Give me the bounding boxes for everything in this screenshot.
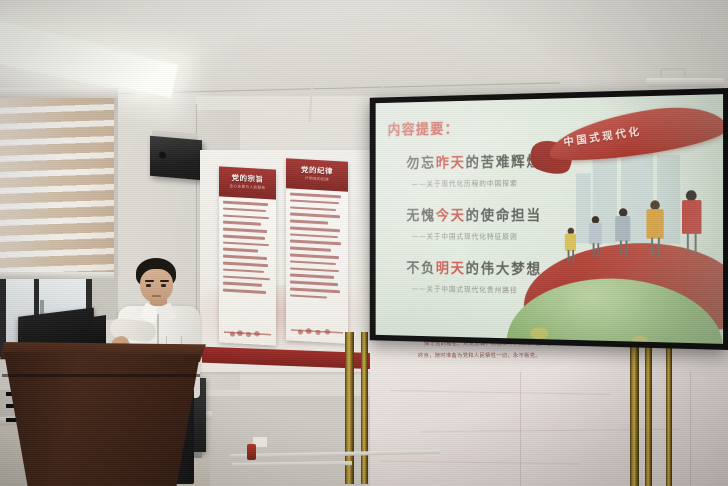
wall-speaker-icon xyxy=(150,136,202,181)
speaker-cone xyxy=(158,150,167,160)
oath-text-line-2: 终身，随时准备为党和人民牺牲一切，永不叛党。 xyxy=(418,352,541,359)
slide-bullet-2: 无愧今天的使命担当 ——关于中国式现代化特征原则 xyxy=(406,205,542,242)
wall-poster-party-purpose: 党的宗旨 全心全意为人民服务 xyxy=(219,166,276,345)
projector-screen-mount xyxy=(646,78,724,87)
lecture-hall-photo: 党的宗旨 全心全意为人民服务 党的纪律 严明党的纪律 xyxy=(0,0,728,486)
presenter-mouth xyxy=(152,295,161,297)
bullet-prefix: 不负 xyxy=(406,259,435,276)
bullet-highlight: 今天 xyxy=(436,207,466,224)
poster-header: 党的纪律 严明党的纪律 xyxy=(286,158,348,191)
poster-text-block xyxy=(223,201,272,320)
bullet-suffix: 的使命担当 xyxy=(466,207,542,224)
fire-valve xyxy=(247,444,256,460)
bullet-prefix: 无愧 xyxy=(406,207,435,224)
presenter-face xyxy=(140,269,173,303)
poster-text-block xyxy=(290,192,344,317)
bullet-subtitle: ——关于中国式现代化贵州路径 xyxy=(412,283,542,295)
slide-surface: 内容提要： 勿忘昨天的苦难辉煌 ——关于现代化历程的中国探索 无愧今天的使命担当… xyxy=(376,94,723,344)
presenter-eye xyxy=(161,284,166,287)
podium xyxy=(4,352,200,486)
blind-highlight xyxy=(0,98,114,276)
globe-landmass xyxy=(581,342,593,344)
bullet-highlight: 昨天 xyxy=(436,154,466,171)
bullet-highlight: 明天 xyxy=(436,259,466,276)
poster-header: 党的宗旨 全心全意为人民服务 xyxy=(219,166,276,199)
gold-trim-strip xyxy=(666,336,672,486)
bullet-heading: 不负明天的伟大梦想 xyxy=(406,257,542,278)
slide-bullet-3: 不负明天的伟大梦想 ——关于中国式现代化贵州路径 xyxy=(406,257,542,296)
bullet-suffix: 的伟大梦想 xyxy=(466,260,542,278)
gold-trim-strip xyxy=(361,332,368,484)
poster-footer-graphic xyxy=(224,319,271,342)
wall-poster-party-discipline: 党的纪律 严明党的纪律 xyxy=(286,158,348,343)
bullet-subtitle: ——关于现代化历程的中国探索 xyxy=(412,178,542,189)
presenter-eyebrow xyxy=(160,280,169,282)
projection-screen: 内容提要： 勿忘昨天的苦难辉煌 ——关于现代化历程的中国探索 无愧今天的使命担当… xyxy=(370,88,728,350)
bullet-prefix: 勿忘 xyxy=(406,154,435,171)
bullet-heading: 无愧今天的使命担当 xyxy=(406,205,542,225)
presenter-eye xyxy=(146,284,151,287)
wall-pipe xyxy=(232,461,352,467)
presenter-eyebrow xyxy=(145,280,154,282)
gold-trim-strip xyxy=(630,336,639,486)
poster-footer-graphic xyxy=(291,317,343,340)
slide-title: 内容提要： xyxy=(388,118,459,139)
globe-landmass xyxy=(632,336,647,344)
blind-headrail xyxy=(0,88,118,98)
bullet-heading: 勿忘昨天的苦难辉煌 xyxy=(406,151,542,173)
globe-landmass xyxy=(530,327,548,339)
slide-bullet-1: 勿忘昨天的苦难辉煌 ——关于现代化历程的中国探索 xyxy=(406,151,542,189)
podium-edge xyxy=(2,374,200,377)
blind-bottom-rail[interactable] xyxy=(0,272,114,279)
gold-trim-strip xyxy=(645,336,652,486)
bullet-subtitle: ——关于中国式现代化特征原则 xyxy=(412,231,542,242)
